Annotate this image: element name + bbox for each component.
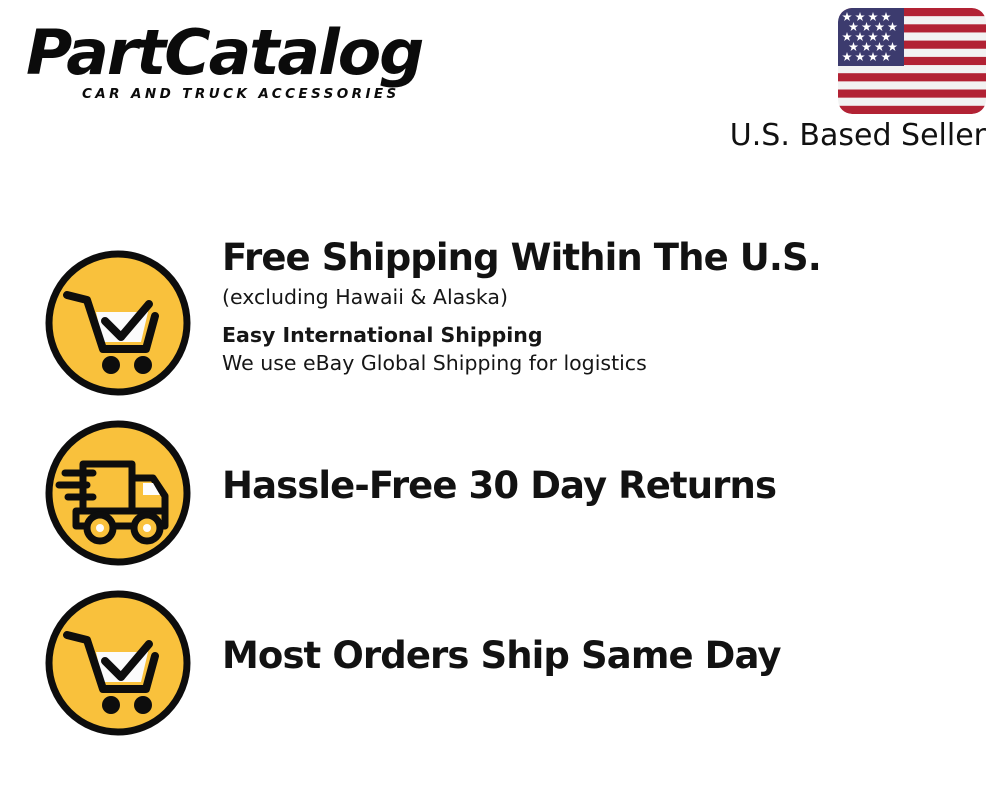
feature-text-block: Most Orders Ship Same Day [222,636,980,675]
feature-text-block: Free Shipping Within The U.S. (excluding… [222,238,980,376]
delivery-truck-icon [43,418,193,568]
feature-subtext-exclusion: (excluding Hawaii & Alaska) [222,284,980,311]
feature-title: Free Shipping Within The U.S. [222,238,980,277]
shopping-cart-check-icon [43,248,193,398]
brand-wordmark: PartCatalog [26,22,505,84]
brand-logo[interactable]: PartCatalog CAR AND TRUCK ACCESSORIES [26,22,496,117]
feature-row: Hassle-Free 30 Day Returns [0,398,1000,568]
feature-row: Free Shipping Within The U.S. (excluding… [0,228,1000,398]
us-based-seller-label: U.S. Based Seller [716,120,986,152]
shopping-cart-check-icon [43,588,193,738]
feature-subtext-international-heading: Easy International Shipping [222,322,980,349]
feature-title: Most Orders Ship Same Day [222,636,980,675]
us-based-seller-badge: U.S. Based Seller [716,8,986,152]
feature-text-block: Hassle-Free 30 Day Returns [222,466,980,505]
feature-subtext-logistics: We use eBay Global Shipping for logistic… [222,350,980,377]
us-flag-icon [838,8,986,114]
feature-row: Most Orders Ship Same Day [0,568,1000,738]
feature-title: Hassle-Free 30 Day Returns [222,466,980,505]
feature-list: Free Shipping Within The U.S. (excluding… [0,228,1000,738]
